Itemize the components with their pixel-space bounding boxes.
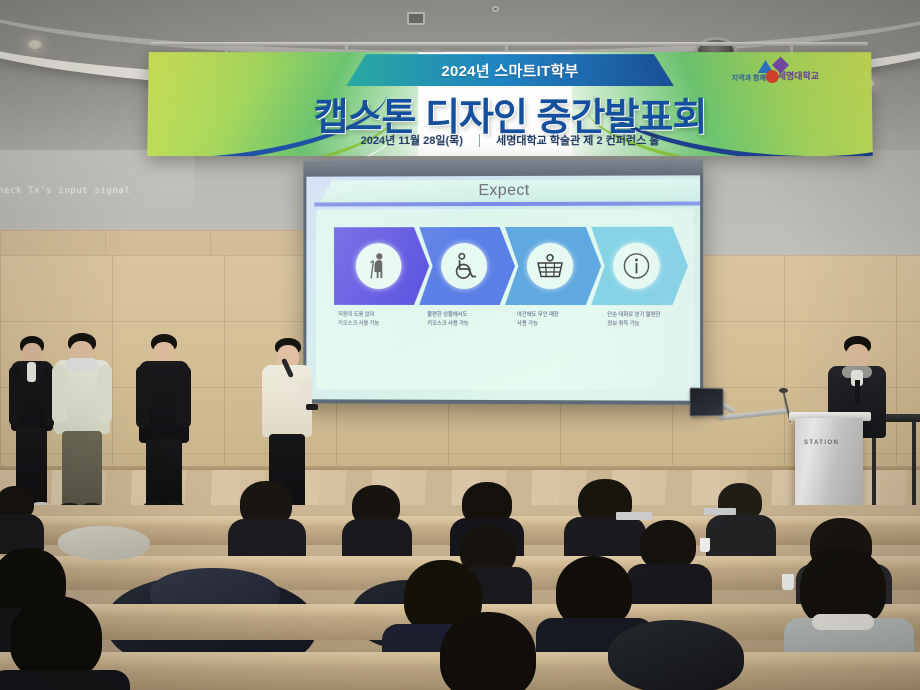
caption-3-line1: 야간에도 무인 매장 — [517, 311, 599, 320]
chevron-caption-row: 직원의 도움 없이 키오스크 사용 가능 불편한 상황에서도 키오스크 사용 가… — [330, 311, 690, 344]
presenter-1-shirt — [27, 362, 36, 382]
banner-date: 2024년 11월 28일(목) — [361, 132, 463, 148]
chevron-step-1 — [334, 227, 429, 305]
logo-text-right: 세명대학교 — [778, 69, 820, 82]
logo-text-left: 지역과 함께 — [732, 73, 766, 83]
chevron-step-3 — [505, 227, 601, 305]
slide-content: Expect — [306, 175, 700, 400]
caption-1-line2: 키오스크 사용 가능 — [338, 320, 419, 329]
audience-head — [10, 596, 102, 680]
presenter-1-arm-left — [9, 366, 21, 426]
chevron-caption-2: 불편한 상황에서도 키오스크 사용 가능 — [419, 311, 509, 343]
chevron-step-2 — [419, 227, 515, 305]
slide-body: 직원의 도움 없이 키오스크 사용 가능 불편한 상황에서도 키오스크 사용 가… — [316, 209, 694, 391]
banner-top-label: 2024년 스마트IT학부 — [441, 60, 578, 81]
podium-person-head — [846, 344, 869, 368]
event-banner: 2024년 스마트IT학부 캡스톤 디자인 중간발표회 2024년 11월 28… — [147, 52, 873, 156]
audience-body — [706, 515, 776, 561]
cup-r1 — [700, 538, 710, 552]
caption-4-line1: 단순 대화로 얻기 불편한 — [607, 311, 690, 320]
presentation-clicker — [306, 404, 318, 410]
banner-top-label-box: 2024년 스마트IT학부 — [346, 54, 674, 86]
side-table-leg-2 — [912, 422, 916, 518]
shopping-basket-icon — [527, 243, 573, 289]
backpack-r4 — [608, 620, 744, 690]
presenter-2-arm-left — [52, 365, 67, 423]
presenter-3-arm-left — [136, 366, 150, 428]
audience-collar — [812, 614, 874, 630]
caption-4-line2: 정보 취득 가능 — [607, 320, 690, 329]
podium-brand-label: STATION — [804, 440, 839, 446]
presenter-3 — [135, 334, 193, 516]
chevron-caption-1: 직원의 도움 없이 키오스크 사용 가능 — [330, 311, 419, 343]
banner-location: 세명대학교 학술관 제 2 컨퍼런스 홀 — [496, 132, 659, 148]
cup-r2 — [782, 574, 794, 590]
banner-divider — [479, 134, 480, 147]
laptop-r1-b — [704, 508, 736, 515]
podium-person-tie — [855, 380, 860, 404]
presenter-2 — [52, 333, 114, 518]
wheelchair-icon — [441, 243, 487, 289]
caption-2-line1: 불편한 상황에서도 — [427, 311, 509, 320]
banner-subtitle-row: 2024년 11월 28일(목) 세명대학교 학술관 제 2 컨퍼런스 홀 — [147, 132, 872, 148]
slide-title: Expect — [478, 182, 529, 200]
laptop-r1 — [616, 512, 652, 520]
stage-monitor — [690, 388, 724, 417]
slide-title-underline — [314, 201, 700, 206]
chevron-step-4 — [591, 227, 688, 305]
ceiling-bolt — [492, 6, 499, 12]
chevron-caption-3: 야간에도 무인 매장 사용 가능 — [509, 311, 599, 343]
information-icon — [613, 243, 659, 289]
presenter-2-pants — [62, 431, 102, 507]
caption-3-line2: 사용 가능 — [517, 320, 599, 329]
caption-2-line2: 키오스크 사용 가능 — [427, 320, 509, 329]
secondary-projection-area — [0, 150, 194, 218]
elderly-person-icon — [356, 243, 402, 289]
audience-head — [640, 520, 696, 570]
presenter-3-legs — [146, 439, 182, 507]
university-logo: 지역과 함께 세명대학교 — [734, 58, 830, 92]
secondary-projection-text: heck Tx's input signal — [0, 186, 198, 196]
audience-body — [0, 670, 130, 690]
slide-title-band: Expect — [320, 179, 700, 202]
presenter-3-arm-right — [177, 366, 191, 428]
chevron-process-row — [334, 227, 688, 305]
coat-on-desk-1 — [58, 526, 150, 560]
lecture-hall-photo: heck Tx's input signal 2024년 스마트IT학부 캡스톤… — [0, 0, 920, 690]
presenter-2-hood — [66, 358, 98, 371]
presenter-2-arm-right — [97, 365, 112, 423]
projection-screen: Expect — [303, 159, 703, 405]
caption-1-line1: 직원의 도움 없이 — [338, 311, 419, 320]
audience-head — [440, 612, 536, 690]
banner-hanging-rail — [150, 42, 868, 46]
ceiling-downlight-2 — [28, 40, 42, 49]
podium-mic-head — [779, 388, 788, 393]
ceiling-vent — [407, 12, 425, 25]
chevron-caption-4: 단순 대화로 얻기 불편한 정보 취득 가능 — [599, 311, 690, 343]
